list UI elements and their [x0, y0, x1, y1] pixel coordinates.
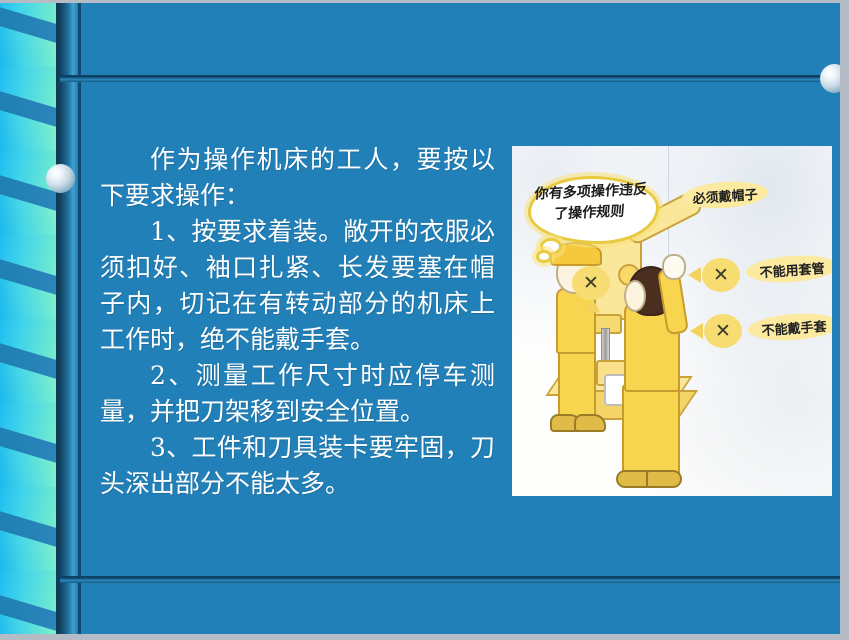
ribbon-half-lower [0, 361, 56, 403]
ribbon-segment [0, 571, 56, 634]
ribbon-decoration [0, 3, 56, 634]
ribbon-segment [0, 403, 56, 487]
ribbon-segment [0, 151, 56, 235]
ribbon-half-lower [0, 529, 56, 571]
slide: 作为操作机床的工人，要按以下要求操作： 1、按要求着装。敞开的衣服必须扣好、袖口… [0, 0, 849, 640]
callout-arrow-icon [585, 300, 601, 313]
callout-arrow-icon [688, 267, 701, 283]
worker-right-face [624, 280, 646, 312]
paragraph-intro: 作为操作机床的工人，要按以下要求操作： [100, 142, 495, 214]
vertical-rod-decoration [56, 3, 78, 634]
safety-cartoon-illustration: 你有多项操作违反了操作规则 ✕ ✕ ✕ 必须戴帽子 不能用套管 不能戴手套 [512, 146, 832, 496]
worker-right-hand [662, 254, 686, 280]
ribbon-half-upper [0, 67, 56, 109]
ribbon-segment [0, 67, 56, 151]
worker-right-shoe [646, 470, 682, 488]
x-mark-icon: ✕ [572, 266, 610, 300]
ribbon-half-upper [0, 235, 56, 277]
callout-arrow-icon [690, 323, 703, 339]
ribbon-half-lower [0, 613, 56, 634]
ribbon-segment [0, 487, 56, 571]
paragraph-rule-1: 1、按要求着装。敞开的衣服必须扣好、袖口扎紧、长发要塞在帽子内，切记在有转动部分… [100, 214, 495, 358]
paragraph-rule-2: 2、测量工作尺寸时应停车测量，并把刀架移到安全位置。 [100, 358, 495, 430]
divider-bottom-inner [60, 576, 840, 583]
knob-right-icon [820, 64, 849, 93]
ribbon-half-upper [0, 403, 56, 445]
worker-left-legs [558, 346, 596, 424]
x-mark-icon: ✕ [702, 258, 740, 292]
speech-bubble-text: 你有多项操作违反了操作规则 [532, 180, 648, 227]
ribbon-half-lower [0, 445, 56, 487]
ribbon-half-lower [0, 109, 56, 151]
ribbon-half-upper [0, 571, 56, 613]
ribbon-half-upper [0, 3, 56, 25]
x-mark-icon: ✕ [704, 314, 742, 348]
ribbon-half-lower [0, 193, 56, 235]
ribbon-segment [0, 319, 56, 403]
divider-top-inner [60, 75, 840, 82]
ribbon-segment [0, 235, 56, 319]
divider-bottom [60, 576, 840, 583]
ribbon-half-lower [0, 277, 56, 319]
vertical-rod-edge [78, 3, 81, 634]
slide-body-text: 作为操作机床的工人，要按以下要求操作： 1、按要求着装。敞开的衣服必须扣好、袖口… [100, 142, 495, 502]
speech-bubble-tail [536, 250, 552, 263]
paragraph-rule-3: 3、工件和刀具装卡要牢固，刀头深出部分不能太多。 [100, 430, 495, 502]
knob-left-icon [46, 164, 75, 193]
ribbon-segment [0, 3, 56, 67]
worker-right-legs [622, 384, 680, 480]
ribbon-half-upper [0, 319, 56, 361]
ribbon-half-lower [0, 25, 56, 67]
divider-top [60, 75, 840, 82]
worker-left-shoe [574, 414, 606, 432]
ribbon-half-upper [0, 487, 56, 529]
